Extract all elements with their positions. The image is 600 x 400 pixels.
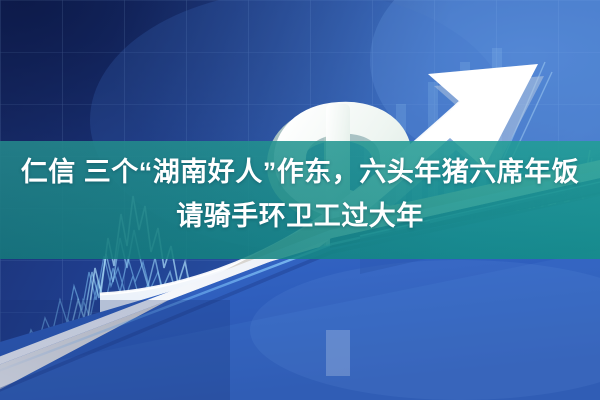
headline-line-1: 仁信 三个“湖南好人”作东，六头年猪六席年饭	[21, 157, 580, 187]
banner-image: 仁信 三个“湖南好人”作东，六头年猪六席年饭 请骑手环卫工过大年	[0, 0, 600, 400]
headline-line-2: 请骑手环卫工过大年	[0, 194, 600, 238]
headline: 仁信 三个“湖南好人”作东，六头年猪六席年饭 请骑手环卫工过大年	[0, 150, 600, 238]
